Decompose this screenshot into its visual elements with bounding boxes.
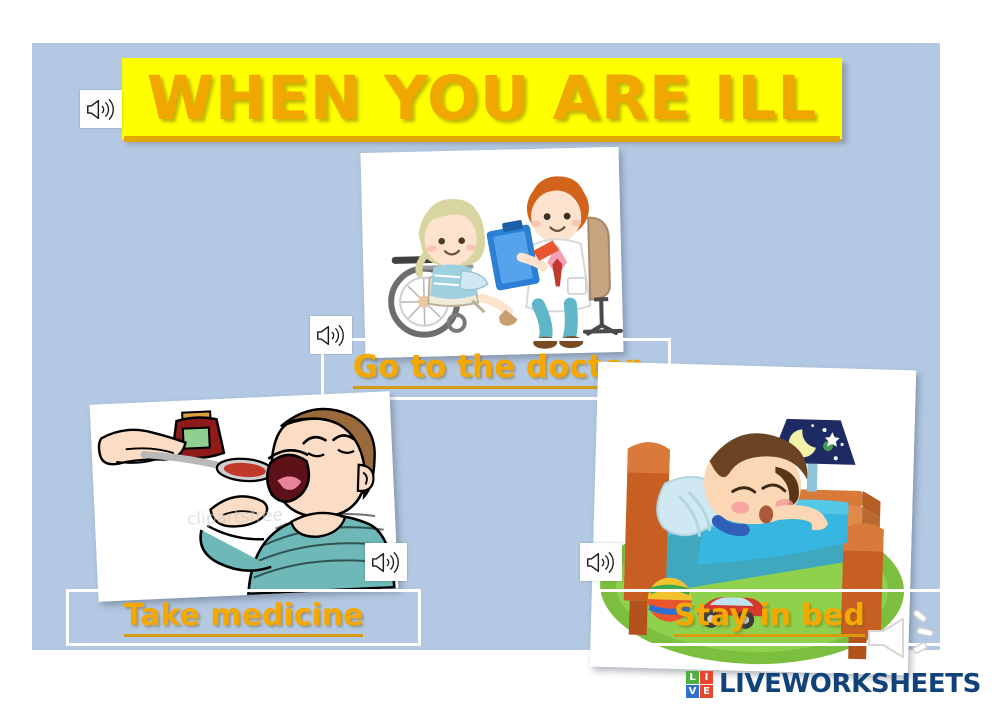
speaker-icon bbox=[316, 323, 346, 348]
speaker-icon bbox=[371, 550, 401, 575]
caption-text: Take medicine bbox=[124, 598, 364, 637]
caption-stay-in-bed[interactable]: Stay in bed bbox=[592, 589, 947, 646]
image-take-medicine: clipartsfree bbox=[90, 391, 399, 601]
slide-canvas: WHEN YOU ARE ILL bbox=[32, 43, 940, 650]
liveworksheets-wordmark: LIVEWORKSHEETS bbox=[719, 669, 981, 699]
logo-tile-e: E bbox=[700, 685, 713, 698]
image-go-to-the-doctor bbox=[361, 147, 624, 358]
speaker-icon-take-medicine[interactable] bbox=[365, 543, 407, 581]
caption-text: Go to the doctor bbox=[353, 349, 639, 389]
speaker-icon-go-to-the-doctor[interactable] bbox=[310, 316, 352, 354]
page-title: WHEN YOU ARE ILL bbox=[122, 58, 842, 146]
speaker-icon-title[interactable] bbox=[80, 90, 122, 128]
caption-text: Stay in bed bbox=[674, 598, 865, 637]
worksheet-page: WHEN YOU ARE ILL bbox=[0, 0, 1000, 707]
doctor-illustration bbox=[361, 147, 624, 358]
liveworksheets-logo-mark: L I V E bbox=[686, 671, 713, 698]
caption-take-medicine[interactable]: Take medicine bbox=[66, 589, 421, 646]
title-text: WHEN YOU ARE ILL bbox=[122, 60, 842, 138]
medicine-illustration: clipartsfree bbox=[90, 391, 399, 601]
speaker-icon bbox=[586, 550, 616, 575]
logo-tile-l: L bbox=[686, 671, 699, 684]
title-underline bbox=[124, 136, 840, 142]
speaker-icon bbox=[86, 97, 116, 122]
logo-tile-i: I bbox=[700, 671, 713, 684]
logo-tile-v: V bbox=[686, 685, 699, 698]
liveworksheets-logo: L I V E LIVEWORKSHEETS bbox=[686, 666, 981, 702]
speaker-icon-stay-in-bed[interactable] bbox=[580, 543, 622, 581]
